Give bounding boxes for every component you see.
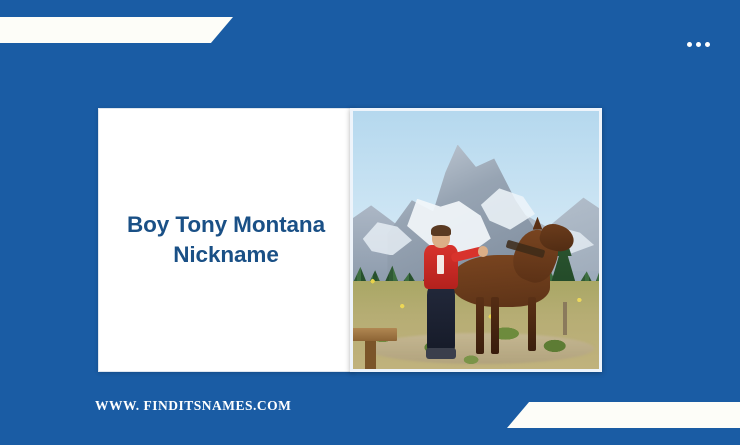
- decorative-banner-bottom-right: [507, 402, 740, 428]
- decorative-banner-top-left: [0, 17, 233, 43]
- more-options-button[interactable]: [683, 38, 714, 51]
- photo-bench-leg: [365, 341, 376, 369]
- photo-horse-leg-back-left: [528, 297, 536, 351]
- page-title: Boy Tony Montana Nickname: [115, 210, 337, 269]
- photo-boy-shoes: [426, 348, 457, 358]
- ellipsis-icon-dot-3: [705, 42, 710, 47]
- slide-canvas: Boy Tony Montana Nickname: [0, 0, 740, 445]
- photo-boy-with-horse: [353, 111, 599, 369]
- title-card: Boy Tony Montana Nickname: [98, 108, 354, 372]
- photo-boy-hair: [431, 225, 452, 237]
- photo-horse-leg-front-left: [476, 297, 484, 354]
- content-row: Boy Tony Montana Nickname: [98, 108, 606, 372]
- photo-horse-leg-front-right: [491, 297, 499, 354]
- photo-boy-hand: [478, 246, 488, 256]
- footer-website-url[interactable]: WWW. FINDITSNAMES.COM: [95, 398, 291, 414]
- ellipsis-icon-dot-2: [696, 42, 701, 47]
- photo-boy-pants: [427, 286, 455, 351]
- photo-boy-lanyard: [437, 255, 444, 273]
- photo-bench-seat: [353, 328, 397, 341]
- ellipsis-icon-dot-1: [687, 42, 692, 47]
- photo-frame[interactable]: [350, 108, 602, 372]
- photo-fence-post: [563, 302, 567, 336]
